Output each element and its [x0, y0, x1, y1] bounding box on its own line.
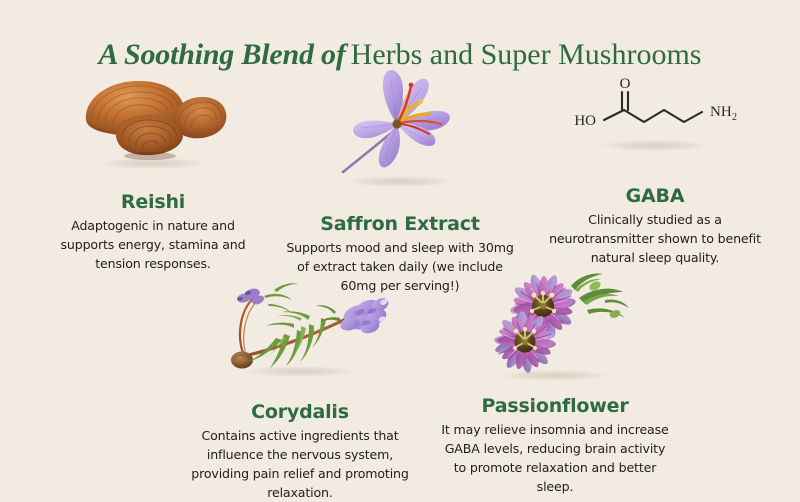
molecule-right-label: NH [710, 104, 732, 120]
card-description: It may relieve insomnia and increase GAB… [437, 420, 673, 496]
molecule-left-label: HO [574, 113, 596, 129]
corydalis-plant-illustration [190, 278, 410, 370]
ingredient-card-passionflower: Passionflower It may relieve insomnia an… [430, 270, 680, 496]
ingredient-card-saffron: Saffron Extract Supports mood and sleep … [282, 62, 518, 295]
saffron-crocus-flower-illustration [335, 62, 465, 180]
card-description: Contains active ingredients that influen… [185, 426, 415, 502]
card-title: Passionflower [430, 394, 680, 418]
card-description: Adaptogenic in nature and supports energ… [48, 216, 258, 273]
ingredient-card-gaba: HO O NH 2 GABA Clinically studied as a n… [530, 72, 780, 267]
infographic-panel: A Soothing Blend ofHerbs and Super Mushr… [0, 0, 800, 494]
card-description: Clinically studied as a neurotransmitter… [547, 210, 763, 267]
card-title: Corydalis [168, 400, 432, 424]
gaba-chemical-structure-diagram: HO O NH 2 [560, 72, 750, 144]
card-title: GABA [530, 184, 780, 208]
molecule-right-subscript: 2 [732, 112, 737, 123]
ingredient-card-corydalis: Corydalis Contains active ingredients th… [168, 278, 432, 502]
reishi-mushroom-illustration [78, 72, 228, 162]
card-title: Saffron Extract [282, 212, 518, 236]
card-title: Reishi [28, 190, 278, 214]
ingredient-card-reishi: Reishi Adaptogenic in nature and support… [28, 72, 278, 273]
molecule-carbonyl-label: O [620, 76, 631, 92]
passionflower-blossoms-illustration [475, 270, 635, 374]
